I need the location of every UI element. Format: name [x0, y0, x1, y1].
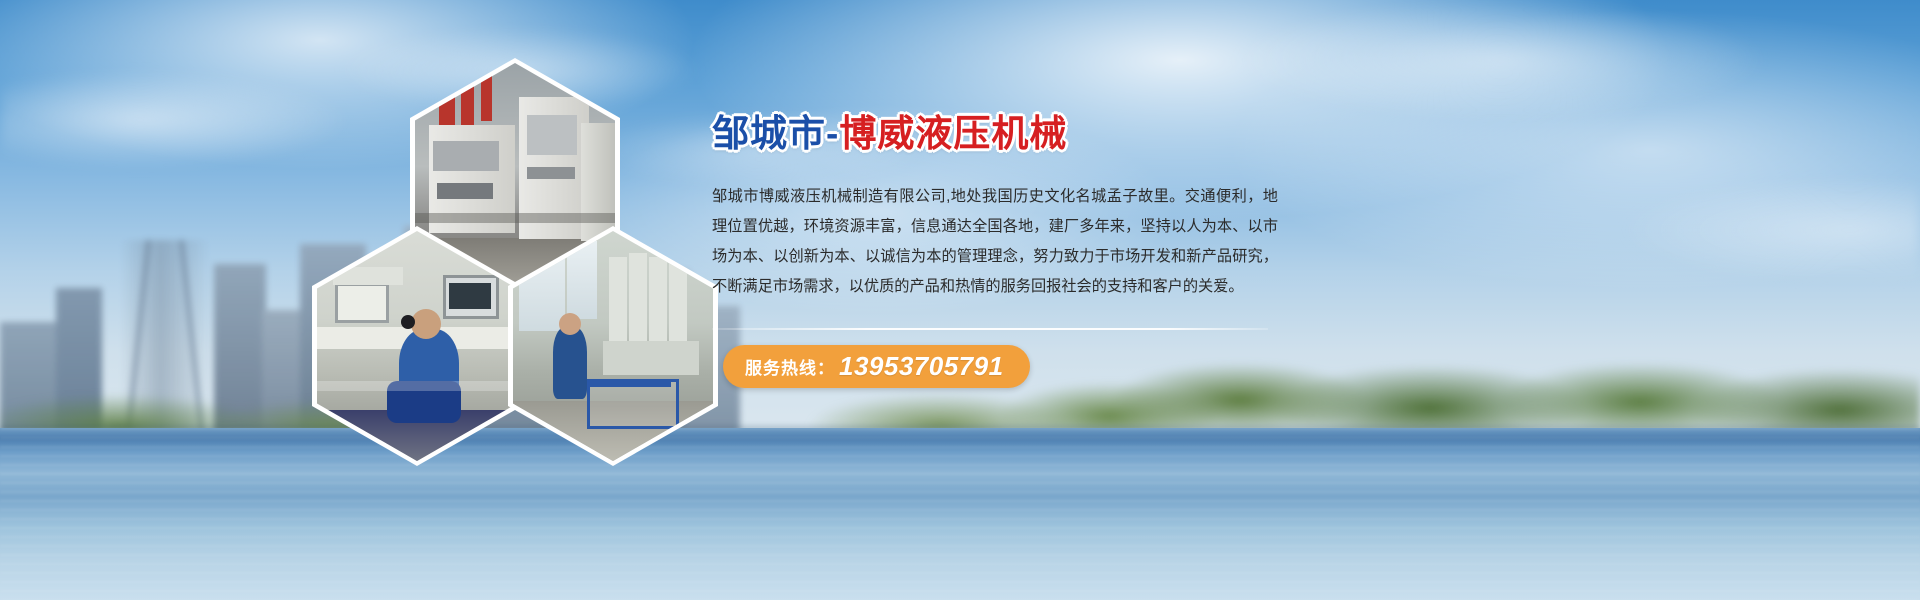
title-city: 邹城市-	[712, 113, 839, 154]
company-description-text: 邹城市博威液压机械制造有限公司,地处我国历史文化名城孟子故里。交通便利，地理位置…	[712, 182, 1278, 302]
hotline-number[interactable]: 13953705791	[839, 351, 1004, 382]
title-company: 博威液压机械	[839, 113, 1067, 154]
page-title: 邹城市-博威液压机械	[712, 108, 1292, 160]
banner-text-block: 邹城市-博威液压机械 邹城市博威液压机械制造有限公司,地处我国历史文化名城孟子故…	[712, 108, 1292, 330]
hexagon-photo-cluster	[300, 58, 700, 438]
company-description: 邹城市博威液压机械制造有限公司,地处我国历史文化名城孟子故里。交通便利，地理位置…	[712, 182, 1278, 302]
hotline-label: 服务热线：	[745, 354, 835, 379]
divider	[712, 328, 1268, 330]
water-foreground	[0, 428, 1920, 600]
company-profile-banner: 邹城市-博威液压机械 邹城市博威液压机械制造有限公司,地处我国历史文化名城孟子故…	[0, 0, 1920, 600]
hotline-button[interactable]: 服务热线： 13953705791	[723, 345, 1030, 388]
